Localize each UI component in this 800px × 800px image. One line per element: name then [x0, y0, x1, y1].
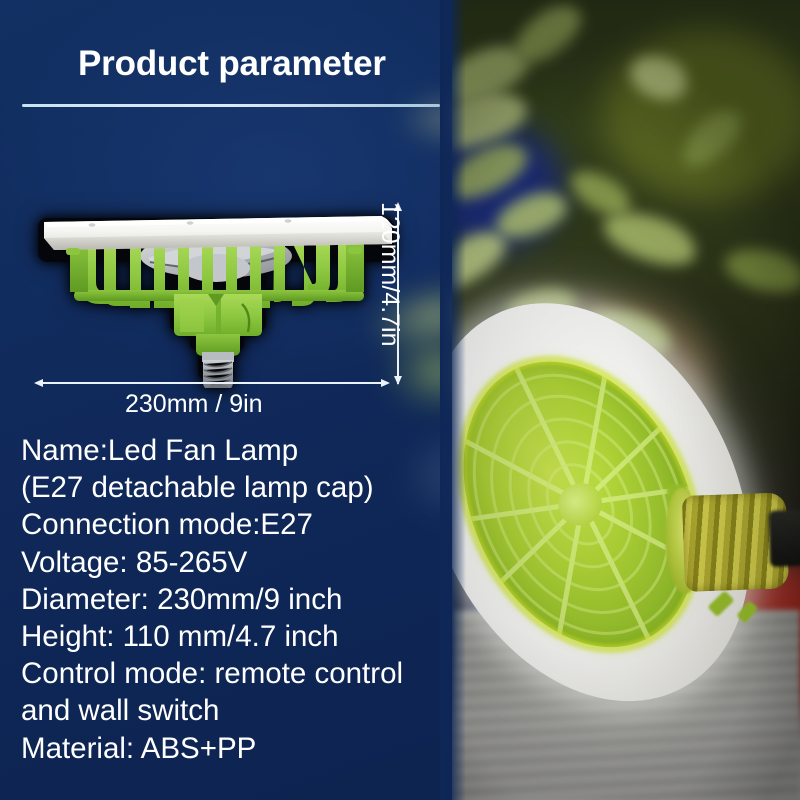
spec-item-height: Height: 110 mm/4.7 inch	[21, 618, 446, 655]
lamp-side-view-illustration	[30, 198, 402, 388]
width-dimension-label: 230mm / 9in	[125, 390, 263, 419]
title-divider	[22, 104, 440, 107]
width-dimension-line	[36, 382, 388, 384]
lamp-housing	[174, 294, 262, 336]
dimension-diagram: 230mm / 9in 120mm/4.7in	[20, 180, 440, 420]
arrow-down-icon	[394, 376, 402, 385]
product-photo	[452, 0, 800, 800]
bokeh-green	[602, 30, 800, 200]
brass-e27-base	[682, 492, 789, 592]
spec-item-connection: Connection mode:E27	[21, 506, 446, 543]
spec-item-control-mode: Control mode: remote control and wall sw…	[21, 655, 446, 729]
spec-item-material: Material: ABS+PP	[21, 730, 446, 767]
product-parameter-graphic: Product parameter	[0, 0, 800, 800]
spec-item-name: Name:Led Fan Lamp	[21, 432, 446, 469]
spec-item-lamp-cap: (E27 detachable lamp cap)	[21, 469, 446, 506]
spec-item-diameter: Diameter: 230mm/9 inch	[21, 581, 446, 618]
spec-panel: Product parameter	[0, 0, 456, 800]
base-contact-tip	[768, 510, 800, 567]
arrow-right-icon	[381, 379, 390, 387]
height-dimension-label: 120mm/4.7in	[375, 202, 404, 347]
spec-item-voltage: Voltage: 85-265V	[21, 544, 446, 581]
page-title: Product parameter	[78, 44, 386, 84]
arrow-left-icon	[34, 379, 43, 387]
photo-bleed-glow	[400, 95, 460, 143]
specification-list: Name:Led Fan Lamp (E27 detachable lamp c…	[21, 432, 446, 767]
